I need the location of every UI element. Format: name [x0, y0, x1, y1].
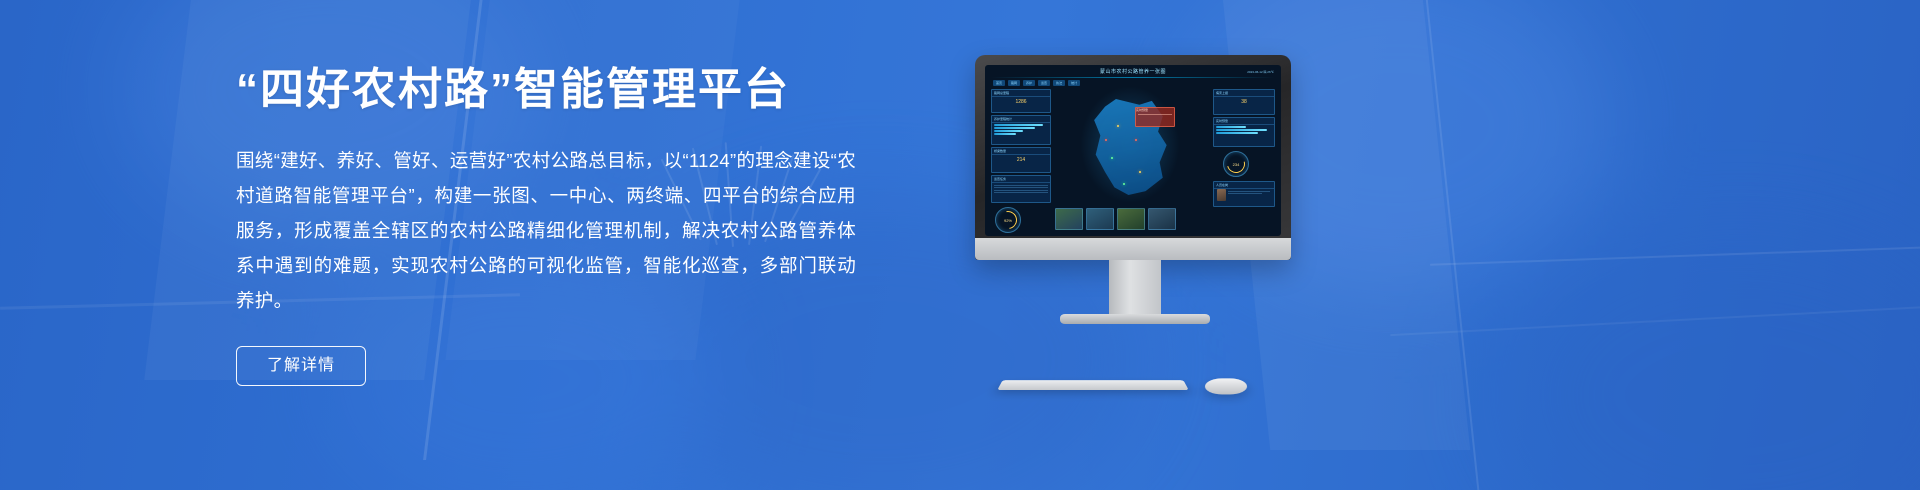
- panel-title: 桥梁数量: [992, 148, 1050, 155]
- dashboard-divider: [991, 77, 1275, 78]
- map-panel: [1077, 87, 1183, 207]
- video-thumbnail[interactable]: [1086, 208, 1114, 230]
- dashboard-ui: 蒙山市农村公路管养一张图 2023-06-12 晴 26℃ 首页 路网 养护 巡…: [985, 65, 1281, 236]
- tab-item[interactable]: 路网: [1008, 80, 1020, 86]
- video-thumbnail[interactable]: [1148, 208, 1176, 230]
- dashboard-panel: 病害上报 38: [1213, 89, 1275, 115]
- dashboard-panel: 实时预警: [1213, 117, 1275, 147]
- tab-item[interactable]: 执法: [1053, 80, 1065, 86]
- hero-copy: “四好农村路”智能管理平台 围绕“建好、养好、管好、运营好”农村公路总目标，以“…: [236, 64, 856, 386]
- gauge-value: 234: [1224, 152, 1248, 176]
- video-thumbnail[interactable]: [1055, 208, 1083, 230]
- panel-kpi: 38: [1214, 97, 1274, 107]
- alert-title: 实时预警: [1136, 108, 1174, 112]
- monitor-chin: [975, 238, 1291, 260]
- panel-title: 人员在岗: [1214, 182, 1274, 189]
- dashboard-status: 2023-06-12 晴 26℃: [1247, 70, 1274, 74]
- dashboard-tabs[interactable]: 首页 路网 养护 巡查 执法 统计: [993, 80, 1080, 86]
- gauge-completion: 92%: [995, 207, 1021, 233]
- dashboard-panel: 人员在岗: [1213, 181, 1275, 207]
- learn-more-button[interactable]: 了解详情: [236, 346, 366, 386]
- panel-kpi: 214: [992, 155, 1050, 165]
- hero-description: 围绕“建好、养好、管好、运营好”农村公路总目标，以“1124”的理念建设“农村道…: [236, 143, 856, 318]
- dashboard-panel: 养护里程统计: [991, 115, 1051, 145]
- gauge-value: 92%: [996, 208, 1020, 232]
- panel-title: 病害上报: [1214, 90, 1274, 97]
- panel-title: 实时预警: [1214, 118, 1274, 125]
- tab-item[interactable]: 首页: [993, 80, 1005, 86]
- tab-item[interactable]: 养护: [1023, 80, 1035, 86]
- alert-popup: 实时预警: [1135, 107, 1175, 127]
- panel-title: 养护里程统计: [992, 116, 1050, 123]
- dashboard-title: 蒙山市农村公路管养一张图: [985, 68, 1281, 75]
- hero-banner: “四好农村路”智能管理平台 围绕“建好、养好、管好、运营好”农村公路总目标，以“…: [0, 0, 1920, 490]
- panel-title: 路网总里程: [992, 90, 1050, 97]
- gauge-online: 234: [1223, 151, 1249, 177]
- tab-item[interactable]: 统计: [1068, 80, 1080, 86]
- monitor-stand-neck: [1109, 260, 1161, 318]
- panel-title: 巡查任务: [992, 176, 1050, 183]
- dashboard-panel: 路网总里程 1286: [991, 89, 1051, 113]
- monitor-screen: 蒙山市农村公路管养一张图 2023-06-12 晴 26℃ 首页 路网 养护 巡…: [985, 65, 1281, 236]
- panel-kpi: 1286: [992, 97, 1050, 107]
- keyboard: [997, 380, 1188, 390]
- dashboard-panel: 巡查任务: [991, 175, 1051, 203]
- tab-item[interactable]: 巡查: [1038, 80, 1050, 86]
- monitor-stand-foot: [1060, 314, 1210, 324]
- monitor-bezel: 蒙山市农村公路管养一张图 2023-06-12 晴 26℃ 首页 路网 养护 巡…: [975, 55, 1291, 260]
- computer-illustration: 蒙山市农村公路管养一张图 2023-06-12 晴 26℃ 首页 路网 养护 巡…: [975, 55, 1295, 355]
- video-thumbnail[interactable]: [1117, 208, 1145, 230]
- mouse: [1204, 378, 1248, 394]
- page-title: “四好农村路”智能管理平台: [236, 64, 856, 117]
- dashboard-panel: 桥梁数量 214: [991, 147, 1051, 173]
